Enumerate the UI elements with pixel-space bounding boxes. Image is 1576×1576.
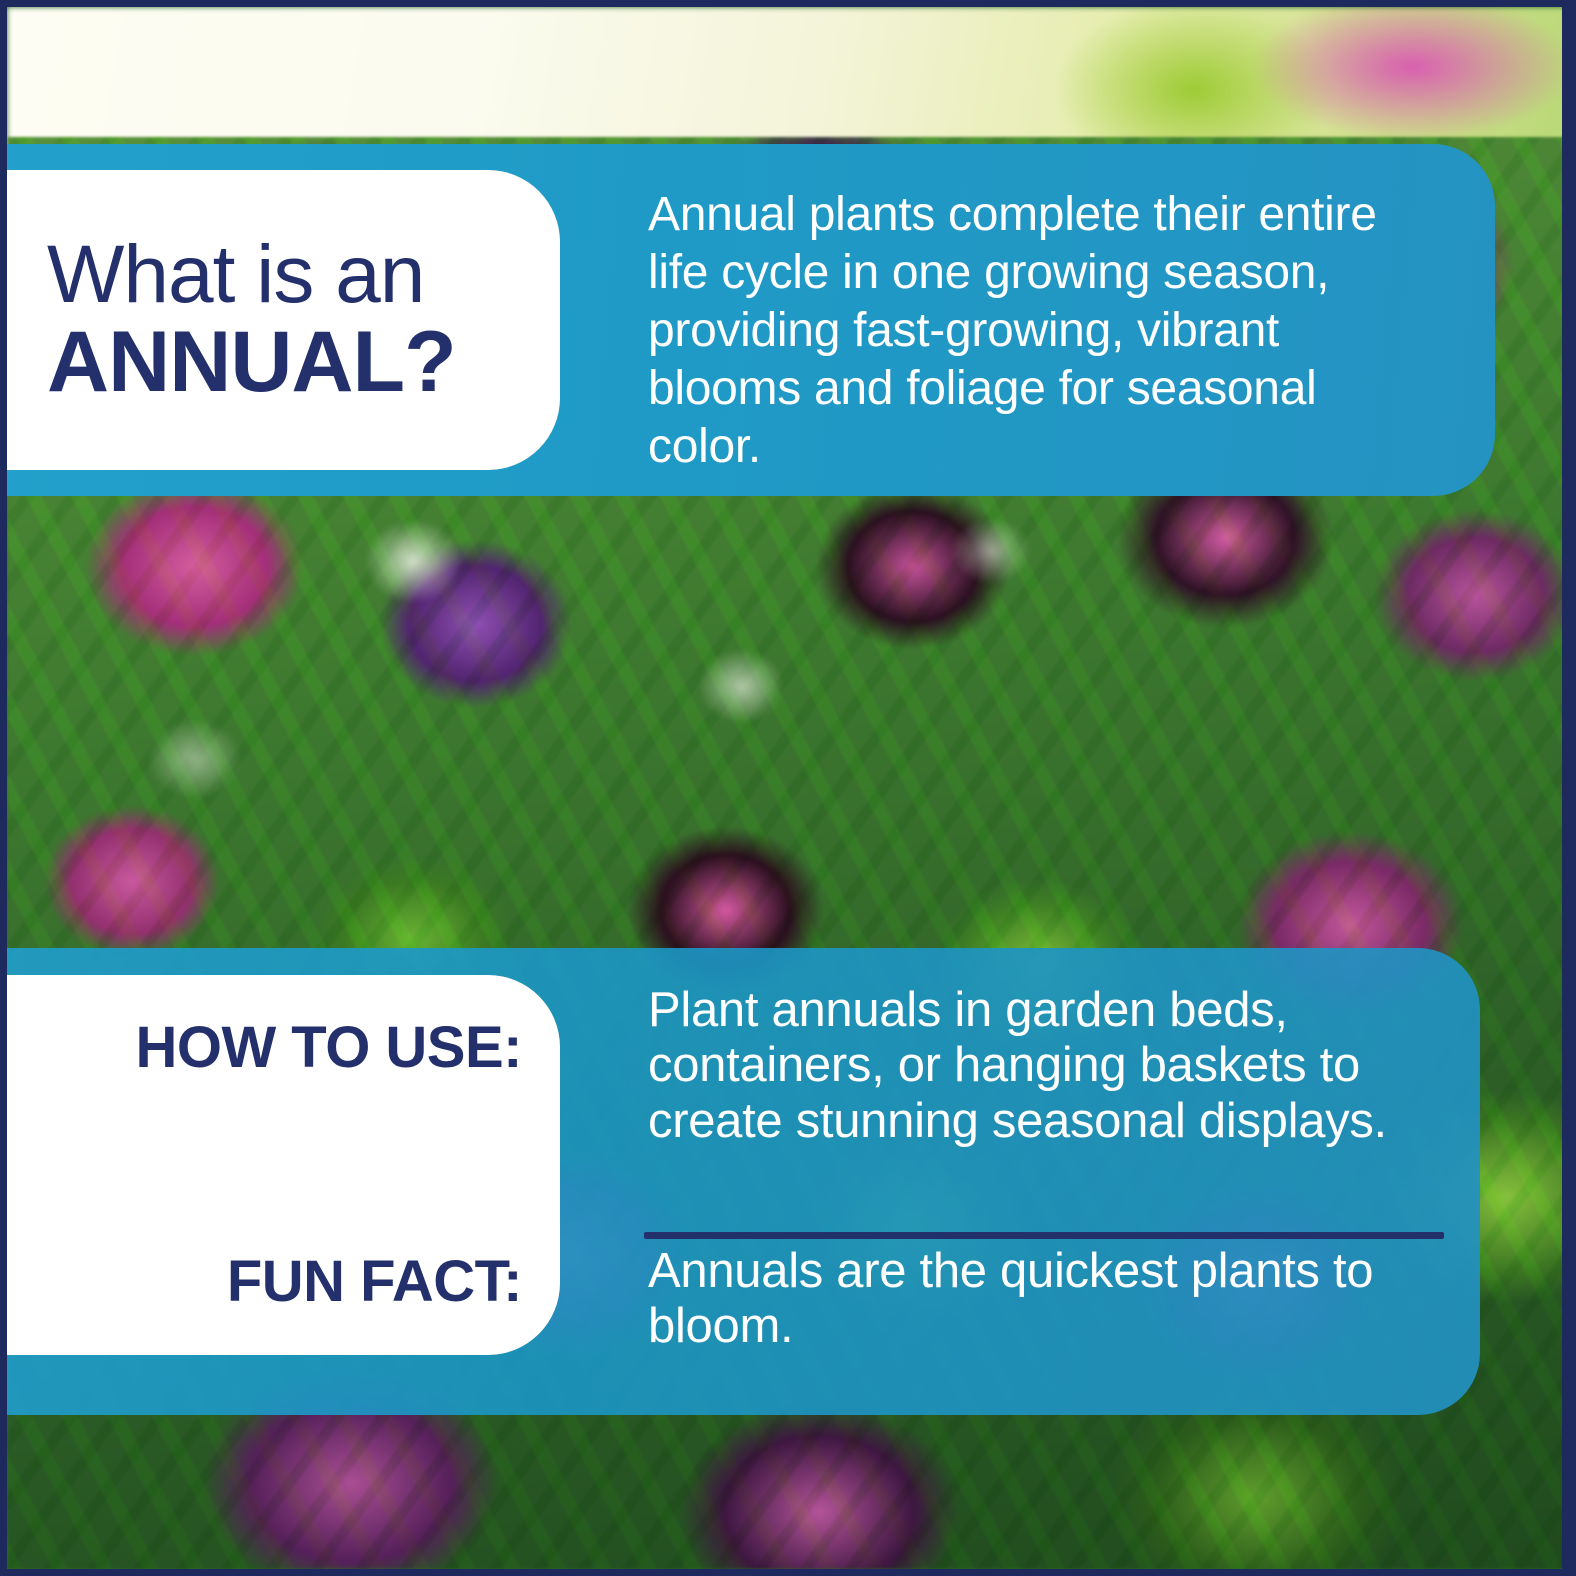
how-to-use-text: Plant annuals in garden beds, containers…	[648, 983, 1458, 1149]
page-title-line2: ANNUAL?	[47, 317, 456, 408]
section-divider	[644, 1232, 1444, 1239]
page-title-line1: What is an	[47, 232, 424, 317]
how-to-use-label: HOW TO USE:	[135, 1019, 522, 1077]
intro-text: Annual plants complete their entire life…	[648, 186, 1408, 476]
photo-top-blur	[7, 7, 1569, 157]
title-card: What is an ANNUAL?	[7, 170, 560, 470]
fun-fact-label: FUN FACT:	[227, 1253, 522, 1311]
infographic-root: What is an ANNUAL? Annual plants complet…	[0, 0, 1576, 1576]
labels-card: HOW TO USE: FUN FACT:	[7, 975, 560, 1355]
fun-fact-text: Annuals are the quickest plants to bloom…	[648, 1244, 1408, 1355]
photo-highlights	[7, 447, 1569, 967]
